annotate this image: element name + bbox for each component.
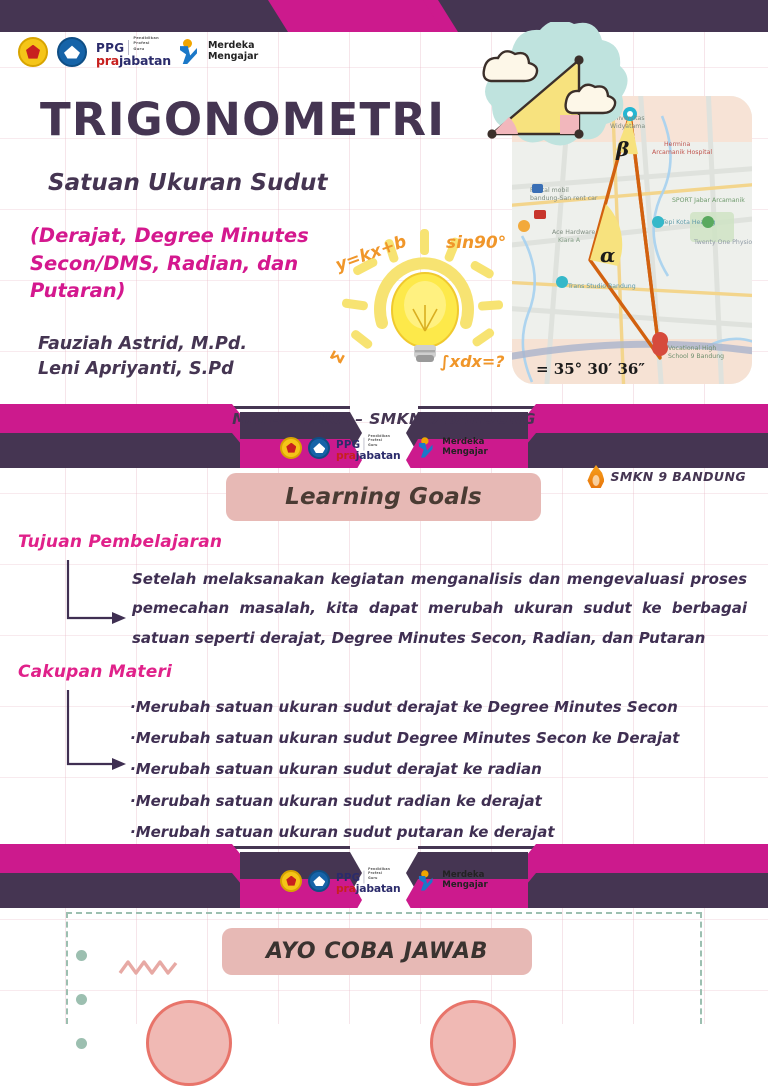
ayo-coba-jawab-pill: AYO COBA JAWAB xyxy=(222,928,532,975)
objective-heading: Tujuan Pembelajaran xyxy=(18,532,222,552)
scope-arrow-connector xyxy=(64,688,128,778)
tutwuri-seal-icon xyxy=(57,37,87,67)
merdeka-mengajar-icon xyxy=(419,870,435,891)
dot xyxy=(76,950,87,961)
learning-goals-label: Learning Goals xyxy=(285,484,482,510)
learning-goals-pill: Learning Goals xyxy=(226,473,541,521)
bottom-logo-row: PPGPendidikanProfesiGuru prajabatan Merd… xyxy=(0,865,768,896)
tutwuri-seal-icon xyxy=(308,870,330,892)
flame-icon xyxy=(587,465,604,488)
svg-text:SPORT Jabar Arcamanik: SPORT Jabar Arcamanik xyxy=(672,197,745,204)
merdeka-mengajar-label: MerdekaMengajar xyxy=(442,871,487,890)
ppg-logo: PPGPendidikanProfesiGuru prajabatan xyxy=(336,434,400,461)
top-decorative-banner xyxy=(0,0,768,32)
objective-text: Setelah melaksanakan kegiatan menganalis… xyxy=(132,565,747,653)
author-list: Fauziah Astrid, M.Pd. Leni Apriyanti, S.… xyxy=(38,332,247,383)
scope-list: Merubah satuan ukuran sudut derajat ke D… xyxy=(130,692,730,848)
merdeka-mengajar-label: MerdekaMengajar xyxy=(208,41,258,62)
list-item: Merubah satuan ukuran sudut putaran ke d… xyxy=(130,817,730,848)
formula-sigma: Σ xyxy=(330,348,350,368)
list-item: Merubah satuan ukuran sudut derajat ke r… xyxy=(130,754,730,785)
objective-arrow-connector xyxy=(64,558,128,630)
subject-school-title: MATEMATIKA – SMKN 9 BANDUNG xyxy=(0,410,768,428)
mid-logo-row: PPGPendidikanProfesiGuru prajabatan Merd… xyxy=(0,432,768,463)
author-name: Leni Apriyanti, S.Pd xyxy=(38,357,247,382)
tutwuri-seal-icon xyxy=(308,437,330,459)
decorative-circle xyxy=(146,1000,232,1086)
page-title: TRIGONOMETRI xyxy=(40,93,445,146)
ayo-coba-jawab-label: AYO COBA JAWAB xyxy=(266,939,488,964)
list-item: Merubah satuan ukuran sudut radian ke de… xyxy=(130,786,730,817)
svg-text:Vocational High: Vocational High xyxy=(668,345,716,352)
dot xyxy=(76,994,87,1005)
list-item: Merubah satuan ukuran sudut Degree Minut… xyxy=(130,723,730,754)
ppg-logo: PPGPendidikanProfesiGuru prajabatan xyxy=(96,36,171,67)
svg-text:bandung-San rent car: bandung-San rent car xyxy=(530,195,598,202)
upi-seal-icon xyxy=(280,437,302,459)
svg-text:Hermina: Hermina xyxy=(664,141,691,148)
merdeka-mengajar-icon xyxy=(419,437,435,458)
upi-seal-icon xyxy=(280,870,302,892)
merdeka-mengajar-label: MerdekaMengajar xyxy=(442,438,487,457)
zigzag-decoration xyxy=(118,957,180,979)
school-badge-label: SMKN 9 BANDUNG xyxy=(610,469,746,484)
angle-alpha-label: α xyxy=(600,243,615,267)
units-list-text: (Derajat, Degree Minutes Secon/DMS, Radi… xyxy=(30,222,360,305)
merdeka-mengajar-icon xyxy=(180,39,199,64)
svg-text:Kiara A: Kiara A xyxy=(558,237,581,244)
header-logo-row: PPGPendidikanProfesiGuru prajabatan Merd… xyxy=(18,36,258,67)
svg-text:School 9 Bandung: School 9 Bandung xyxy=(668,353,724,360)
formula-integral: ∫xdx=? xyxy=(440,352,505,371)
angle-measure-label: = 35° 30′ 36″ xyxy=(536,360,645,378)
list-item: Merubah satuan ukuran sudut derajat ke D… xyxy=(130,692,730,723)
decorative-dot-column xyxy=(76,950,87,1082)
decorative-circle xyxy=(430,1000,516,1086)
svg-text:Twenty One Physio: Twenty One Physio xyxy=(693,239,752,246)
scope-heading: Cakupan Materi xyxy=(18,662,172,682)
dot xyxy=(76,1038,87,1049)
svg-text:Ace Hardware: Ace Hardware xyxy=(552,229,595,236)
page-subtitle: Satuan Ukuran Sudut xyxy=(48,170,328,196)
formula-sin90: sin90° xyxy=(446,233,506,253)
author-name: Fauziah Astrid, M.Pd. xyxy=(38,332,247,357)
school-badge: SMKN 9 BANDUNG xyxy=(587,465,746,488)
ppg-logo: PPGPendidikanProfesiGuru prajabatan xyxy=(336,867,400,894)
upi-seal-icon xyxy=(18,37,48,67)
svg-text:Arcamanik Hospital: Arcamanik Hospital xyxy=(652,149,712,156)
svg-text:Trans Studio Bandung: Trans Studio Bandung xyxy=(567,283,636,290)
cloud-triangle-illustration xyxy=(468,22,643,167)
